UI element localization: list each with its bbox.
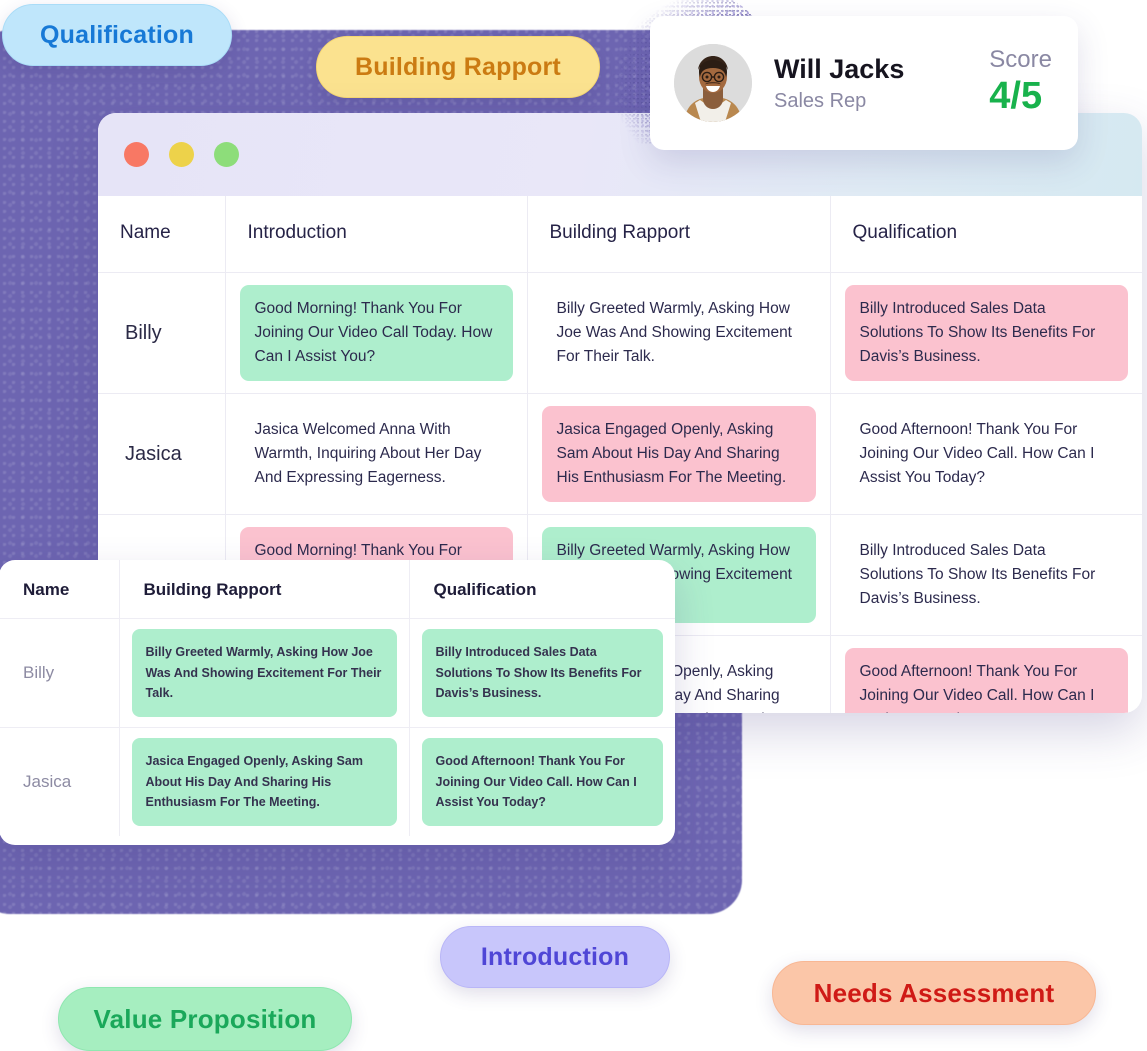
cell-text: Billy Greeted Warmly, Asking How Joe Was…	[542, 285, 816, 381]
cell-introduction: Good Morning! Thank You For Joining Our …	[225, 273, 527, 394]
cell-text: Good Afternoon! Thank You For Joining Ou…	[845, 406, 1129, 502]
stage-pill-introduction[interactable]: Introduction	[440, 926, 670, 988]
stage-pill-label: Needs Assessment	[814, 978, 1055, 1009]
cell-qualification: Billy Introduced Sales Data Solutions To…	[830, 273, 1142, 394]
cell-text: Billy Introduced Sales Data Solutions To…	[845, 527, 1129, 623]
profile-score-block: Score 4/5	[989, 47, 1052, 119]
close-dot-icon[interactable]	[124, 142, 149, 167]
stage-pill-value-proposition[interactable]: Value Proposition	[58, 987, 352, 1051]
overlay-cell-building-rapport: Billy Greeted Warmly, Asking How Joe Was…	[119, 619, 409, 728]
overlay-cell-text: Billy Greeted Warmly, Asking How Joe Was…	[132, 629, 397, 717]
maximize-dot-icon[interactable]	[214, 142, 239, 167]
overlay-column-header-building-rapport: Building Rapport	[119, 560, 409, 619]
column-header-introduction: Introduction	[225, 196, 527, 273]
cell-name: Billy	[98, 273, 225, 394]
overlay-table-row[interactable]: Jasica Jasica Engaged Openly, Asking Sam…	[0, 727, 675, 835]
overlay-summary-card: Name Building Rapport Qualification Bill…	[0, 560, 675, 845]
profile-text-block: Will Jacks Sales Rep	[774, 53, 989, 112]
cell-text: Jasica Engaged Openly, Asking Sam About …	[542, 406, 816, 502]
table-header-row: Name Introduction Building Rapport Quali…	[98, 196, 1142, 273]
stage-pill-needs-assessment[interactable]: Needs Assessment	[772, 961, 1096, 1025]
overlay-cell-qualification: Good Afternoon! Thank You For Joining Ou…	[409, 727, 675, 835]
profile-role: Sales Rep	[774, 90, 989, 113]
overlay-cell-qualification: Billy Introduced Sales Data Solutions To…	[409, 619, 675, 728]
cell-building-rapport: Billy Greeted Warmly, Asking How Joe Was…	[527, 273, 830, 394]
stage-pill-qualification[interactable]: Qualification	[2, 4, 232, 66]
cell-name: Jasica	[98, 394, 225, 515]
overlay-cell-text: Jasica Engaged Openly, Asking Sam About …	[132, 738, 397, 826]
sales-rep-profile-card: Will Jacks Sales Rep Score 4/5	[650, 16, 1078, 150]
cell-text: Good Morning! Thank You For Joining Our …	[240, 285, 513, 381]
cell-text: Good Afternoon! Thank You For Joining Ou…	[845, 648, 1129, 713]
column-header-name: Name	[98, 196, 225, 273]
overlay-summary-table: Name Building Rapport Qualification Bill…	[0, 560, 675, 836]
overlay-cell-building-rapport: Jasica Engaged Openly, Asking Sam About …	[119, 727, 409, 835]
overlay-cell-text: Good Afternoon! Thank You For Joining Ou…	[422, 738, 664, 826]
overlay-column-header-name: Name	[0, 560, 119, 619]
cell-text: Jasica Welcomed Anna With Warmth, Inquir…	[240, 406, 513, 502]
table-row[interactable]: Billy Good Morning! Thank You For Joinin…	[98, 273, 1142, 394]
stage-pill-label: Value Proposition	[94, 1004, 317, 1035]
cell-qualification: Billy Introduced Sales Data Solutions To…	[830, 515, 1142, 636]
score-value: 4/5	[989, 75, 1052, 119]
score-label: Score	[989, 47, 1052, 73]
stage-pill-label: Qualification	[40, 21, 194, 50]
overlay-column-header-qualification: Qualification	[409, 560, 675, 619]
column-header-qualification: Qualification	[830, 196, 1142, 273]
profile-name: Will Jacks	[774, 53, 989, 85]
table-row[interactable]: Jasica Jasica Welcomed Anna With Warmth,…	[98, 394, 1142, 515]
overlay-cell-text: Billy Introduced Sales Data Solutions To…	[422, 629, 664, 717]
cell-text: Billy Introduced Sales Data Solutions To…	[845, 285, 1129, 381]
overlay-cell-name: Billy	[0, 619, 119, 728]
stage-pill-building-rapport[interactable]: Building Rapport	[316, 36, 600, 98]
column-header-building-rapport: Building Rapport	[527, 196, 830, 273]
stage: Qualification Building Rapport Introduct…	[0, 0, 1147, 1050]
minimize-dot-icon[interactable]	[169, 142, 194, 167]
cell-building-rapport: Jasica Engaged Openly, Asking Sam About …	[527, 394, 830, 515]
avatar-illustration	[674, 44, 752, 122]
cell-qualification: Good Afternoon! Thank You For Joining Ou…	[830, 636, 1142, 713]
overlay-table-row[interactable]: Billy Billy Greeted Warmly, Asking How J…	[0, 619, 675, 728]
cell-qualification: Good Afternoon! Thank You For Joining Ou…	[830, 394, 1142, 515]
stage-pill-label: Introduction	[481, 943, 629, 972]
cell-introduction: Jasica Welcomed Anna With Warmth, Inquir…	[225, 394, 527, 515]
overlay-header-row: Name Building Rapport Qualification	[0, 560, 675, 619]
overlay-cell-name: Jasica	[0, 727, 119, 835]
stage-pill-label: Building Rapport	[355, 53, 561, 82]
will-jacks-avatar	[674, 44, 752, 122]
